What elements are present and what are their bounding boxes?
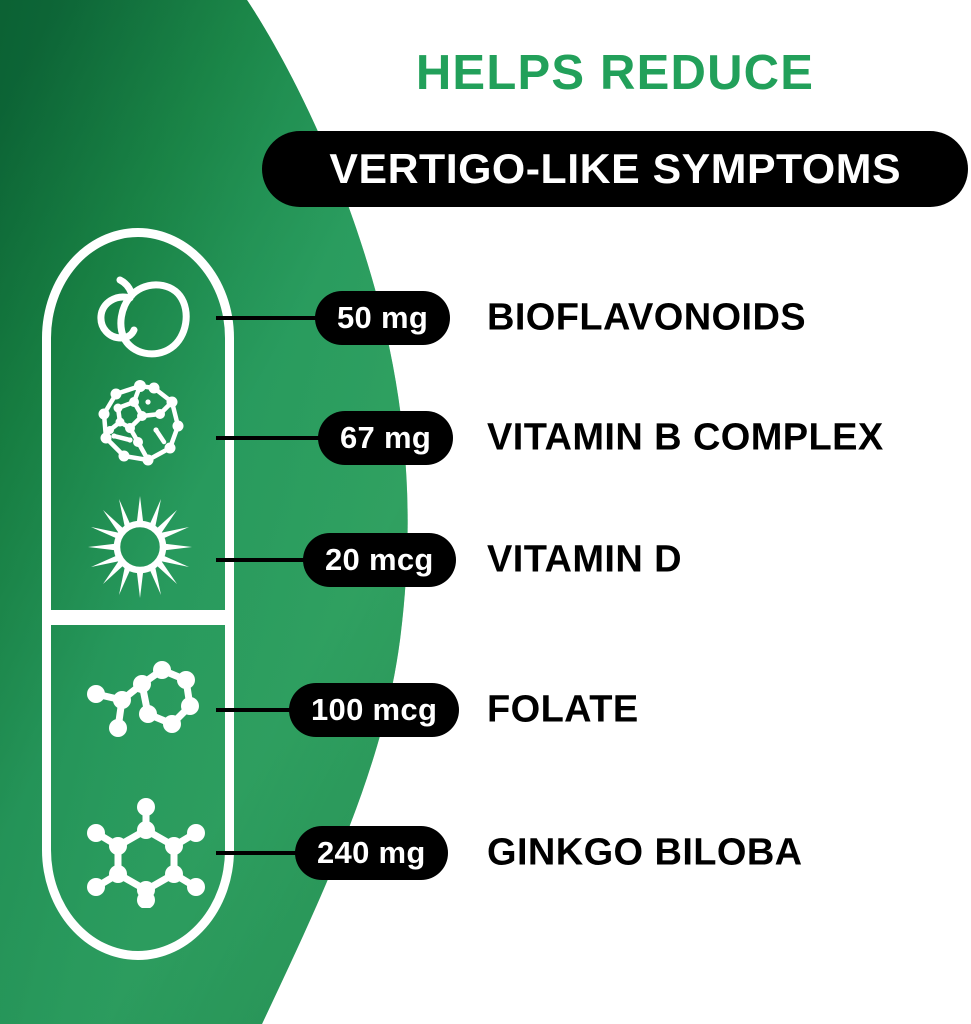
molecule-network-icon (86, 372, 226, 476)
ingredient-name-3: VITAMIN D (487, 539, 682, 582)
supplement-capsule-divider (42, 610, 234, 625)
benzene-ring-icon (86, 800, 226, 904)
dose-badge-2: 67 mg (318, 411, 453, 465)
dose-badge-5: 240 mg (295, 826, 448, 880)
dose-badge-4-label: 100 mcg (311, 692, 437, 728)
dose-badge-2-label: 67 mg (340, 420, 431, 456)
connector-line-5 (216, 851, 306, 855)
page-title-eyebrow: HELPS REDUCE (262, 48, 968, 99)
dose-badge-1: 50 mg (315, 291, 450, 345)
lemon-icon (86, 266, 226, 370)
ingredient-name-1: BIOFLAVONOIDS (487, 297, 806, 340)
ingredient-name-5: GINKGO BILOBA (487, 832, 803, 875)
sun-icon (86, 495, 226, 599)
dose-badge-4: 100 mcg (289, 683, 459, 737)
page-title-banner-label: VERTIGO-LIKE SYMPTOMS (329, 145, 901, 193)
connector-line-4 (216, 708, 300, 712)
page-title-banner: VERTIGO-LIKE SYMPTOMS (262, 131, 968, 207)
dose-badge-3: 20 mcg (303, 533, 456, 587)
dose-badge-3-label: 20 mcg (325, 542, 434, 578)
ingredient-name-2: VITAMIN B COMPLEX (487, 417, 884, 460)
dose-badge-1-label: 50 mg (337, 300, 428, 336)
ingredient-name-4: FOLATE (487, 689, 639, 732)
molecule-branched-icon (78, 655, 218, 759)
dose-badge-5-label: 240 mg (317, 835, 426, 871)
infographic-poster: HELPS REDUCE VERTIGO-LIKE SYMPTOMS 50 mg… (0, 0, 971, 1024)
